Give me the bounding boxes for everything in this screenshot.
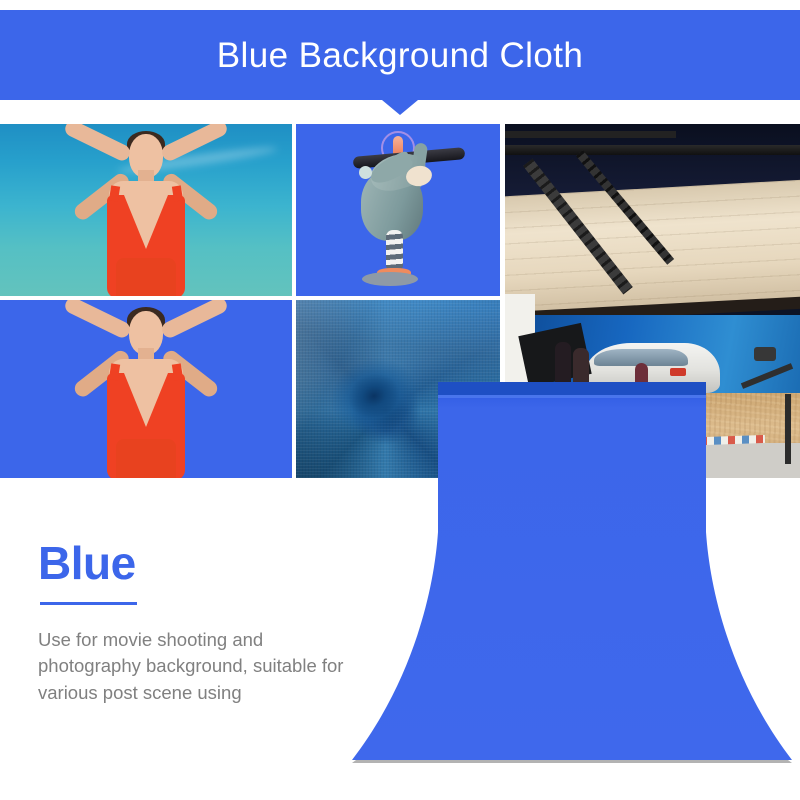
model-keyed-photo[interactable] [0, 300, 292, 478]
figurine-character [296, 124, 500, 296]
model-neckline-cut [124, 195, 168, 249]
model-arm-left [63, 300, 133, 340]
model-waist [116, 258, 176, 296]
section-heading: Blue [38, 540, 368, 586]
product-infographic-page: Blue Background Cloth [0, 0, 800, 800]
studio-light-head [754, 347, 776, 361]
cloth-top-band [438, 382, 706, 395]
blue-backdrop-cloth [352, 382, 792, 766]
model-arm-left [63, 124, 133, 163]
studio-beam-upper [505, 131, 676, 138]
model-waist [116, 439, 176, 478]
model-arm-right [159, 124, 229, 163]
model-arm-right [159, 300, 229, 340]
heading-underline-rule [40, 602, 137, 605]
triangle-down-icon [382, 100, 418, 115]
model-original-photo[interactable] [0, 124, 292, 296]
model-figure [51, 124, 241, 296]
header-banner: Blue Background Cloth [0, 10, 800, 100]
model-neckline-cut [124, 373, 168, 427]
figurine-chromakey-photo[interactable] [296, 124, 500, 296]
cloth-hem-ridge [438, 395, 706, 398]
studio-crew-member [573, 348, 589, 386]
figurine-base [362, 272, 418, 286]
figurine-striped-leg [386, 230, 403, 272]
page-title: Blue Background Cloth [217, 38, 583, 73]
studio-car-taillight [670, 368, 686, 376]
model-figure [51, 300, 241, 478]
studio-crew-member [555, 342, 571, 386]
studio-beam [505, 145, 800, 155]
cloth-body [352, 382, 792, 760]
description-block: Blue Use for movie shooting and photogra… [38, 540, 368, 706]
description-text: Use for movie shooting and photography b… [38, 627, 356, 706]
